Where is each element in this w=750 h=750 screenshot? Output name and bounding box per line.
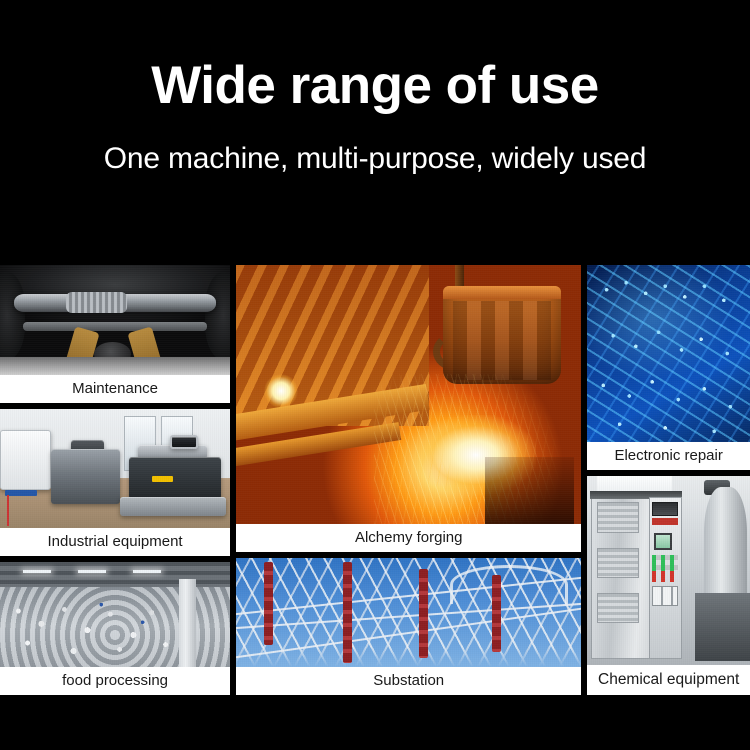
support-pillar-shape	[179, 579, 195, 667]
blue-pallet-shape	[5, 490, 37, 496]
machine-right-shape	[129, 457, 221, 500]
gallery-tile-alchemy-forging[interactable]: Alchemy forging	[236, 265, 581, 552]
use-case-gallery: Maintenance Industrial equipment	[0, 265, 750, 695]
machine-base-shape	[120, 497, 226, 516]
gallery-tile-substation[interactable]: Substation	[236, 558, 581, 695]
gallery-tile-industrial-equipment[interactable]: Industrial equipment	[0, 409, 230, 556]
tile-caption-industrial-equipment: Industrial equipment	[0, 528, 230, 556]
gallery-column-left: Maintenance Industrial equipment	[0, 265, 230, 695]
machine-left-shape	[0, 430, 51, 490]
electrical-substation-photo	[236, 558, 581, 667]
cabinet-vent-1-shape	[597, 502, 639, 532]
worker-crowd-shape	[0, 587, 230, 667]
food-factory-workers-photo	[0, 562, 230, 667]
tile-caption-alchemy-forging: Alchemy forging	[236, 524, 581, 552]
insulator-column-3-shape	[419, 569, 428, 658]
yellow-label-shape	[152, 476, 173, 482]
gallery-tile-chemical-equipment[interactable]: Chemical equipment	[587, 476, 750, 695]
gallery-column-middle: Alchemy forging Substation	[236, 265, 581, 695]
gallery-tile-maintenance[interactable]: Maintenance	[0, 265, 230, 403]
gallery-column-right: Electronic repair Chemical equipme	[587, 265, 750, 695]
red-readout-shape	[652, 518, 678, 526]
page-subtitle: One machine, multi-purpose, widely used	[104, 142, 646, 176]
pcb-glow-shape	[587, 265, 750, 442]
insulator-column-1-shape	[264, 562, 273, 645]
axle-shape	[23, 322, 207, 331]
reactor-tank-shape	[704, 487, 746, 600]
red-indicator-leds-shape	[652, 571, 678, 582]
tank-base-shape	[695, 593, 750, 661]
steel-ladle-shape	[443, 286, 560, 384]
arc-lamp-shape	[264, 374, 298, 408]
tire-left-shape	[0, 272, 25, 360]
exhaust-pipe-shape	[14, 294, 217, 313]
tile-caption-substation: Substation	[236, 667, 581, 695]
car-underside-exhaust-photo	[0, 265, 230, 375]
molten-steel-ladle-photo	[236, 265, 581, 524]
header-banner: Wide range of use One machine, multi-pur…	[0, 0, 750, 265]
ceiling-lamp-2-shape	[78, 570, 106, 573]
page-title: Wide range of use	[151, 58, 599, 114]
gallery-tile-food-processing[interactable]: food processing	[0, 562, 230, 695]
foreground-shadow-shape	[485, 457, 575, 524]
ceiling-lamp-1-shape	[23, 570, 51, 573]
machine-monitor-shape	[170, 435, 198, 449]
gallery-tile-electronic-repair[interactable]: Electronic repair	[587, 265, 750, 470]
tile-caption-chemical-equipment: Chemical equipment	[587, 665, 750, 695]
cabinet-vent-3-shape	[597, 593, 639, 623]
push-button-grid-shape	[652, 586, 678, 607]
cabinet-vent-2-shape	[597, 548, 639, 578]
red-hose-shape	[7, 495, 9, 526]
insulator-column-4-shape	[492, 575, 501, 651]
insulator-column-2-shape	[343, 562, 352, 662]
factory-ceiling-shape	[0, 562, 230, 587]
tire-right-shape	[205, 272, 230, 360]
hmi-screen-shape	[654, 533, 672, 550]
ceiling-lamp-3-shape	[133, 570, 161, 573]
digital-meter-shape	[652, 502, 678, 515]
tile-caption-food-processing: food processing	[0, 667, 230, 695]
cnc-machine-shop-photo	[0, 409, 230, 528]
tile-caption-electronic-repair: Electronic repair	[587, 442, 750, 470]
garage-floor-shape	[0, 357, 230, 375]
chemical-control-cabinet-photo	[587, 476, 750, 665]
blue-circuit-board-photo	[587, 265, 750, 442]
tile-caption-maintenance: Maintenance	[0, 375, 230, 403]
machine-middle-shape	[51, 449, 120, 504]
